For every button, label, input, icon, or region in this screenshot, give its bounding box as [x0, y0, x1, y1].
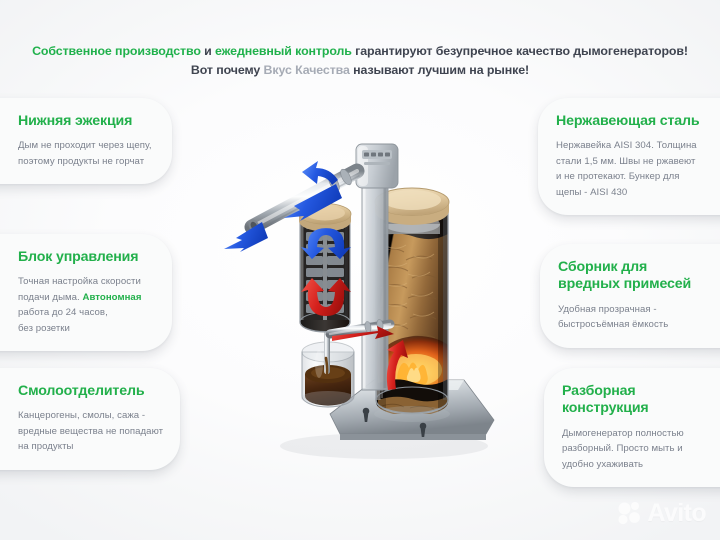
feature-card-body: Дым не проходит через щепу, поэтому прод…	[18, 138, 156, 169]
control-column	[362, 174, 388, 390]
feature-card-control-block: Блок управления Точная настройка скорост…	[0, 234, 172, 351]
feature-card-demountable: Разборная конструкция Дымогенератор полн…	[544, 368, 720, 487]
page-canvas: Собственное производство и ежедневный ко…	[0, 0, 720, 540]
feature-card-tar-separator: Смолоотделитель Канцерогены, смолы, сажа…	[0, 368, 180, 470]
header-line-1-tail: гарантируют безупречное качество дымоген…	[352, 44, 688, 58]
header-conjunction: и	[201, 44, 215, 58]
feature-card-collector: Сборник для вредных примесей Удобная про…	[540, 244, 720, 348]
feature-card-title: Разборная конструкция	[562, 383, 702, 418]
avito-watermark: Avito	[617, 500, 706, 526]
feature-card-body-emphasis: Автономная	[82, 292, 141, 303]
header-banner: Собственное производство и ежедневный ко…	[0, 42, 720, 80]
header-line-1: Собственное производство и ежедневный ко…	[0, 42, 720, 61]
feature-card-body: Дымогенератор полностью разборный. Прост…	[562, 426, 702, 473]
brand-name: Вкус Качества	[264, 63, 350, 77]
feature-card-body-post: работа до 24 часов, без розетки	[18, 307, 108, 334]
avito-watermark-label: Avito	[647, 501, 706, 526]
feature-card-title: Смолоотделитель	[18, 383, 164, 400]
feature-card-stainless-steel: Нержавеющая сталь Нержавейка AISI 304. Т…	[538, 98, 720, 215]
header-highlight-control: ежедневный контроль	[215, 44, 352, 58]
feature-card-body: Нержавейка AISI 304. Толщина стали 1,5 м…	[556, 138, 702, 200]
feature-card-title: Блок управления	[18, 249, 156, 266]
feature-card-lower-ejection: Нижняя эжекция Дым не проходит через щеп…	[0, 98, 172, 184]
feature-card-title: Сборник для вредных примесей	[558, 259, 702, 294]
avito-logo-icon	[617, 500, 643, 526]
product-illustration-smoke-generator	[218, 128, 524, 462]
feature-card-body: Точная настройка скорости подачи дыма. А…	[18, 274, 156, 336]
header-highlight-production: Собственное производство	[32, 44, 201, 58]
feature-card-body: Удобная прозрачная - быстросъёмная ёмкос…	[558, 302, 702, 333]
feature-card-title: Нижняя эжекция	[18, 113, 156, 130]
feature-card-title: Нержавеющая сталь	[556, 113, 702, 130]
header-line-2-tail: называют лучшим на рынке!	[350, 63, 529, 77]
header-line-2-lead: Вот почему	[191, 63, 264, 77]
header-line-2: Вот почему Вкус Качества называют лучшим…	[0, 61, 720, 80]
feature-card-body: Канцерогены, смолы, сажа - вредные вещес…	[18, 408, 164, 455]
